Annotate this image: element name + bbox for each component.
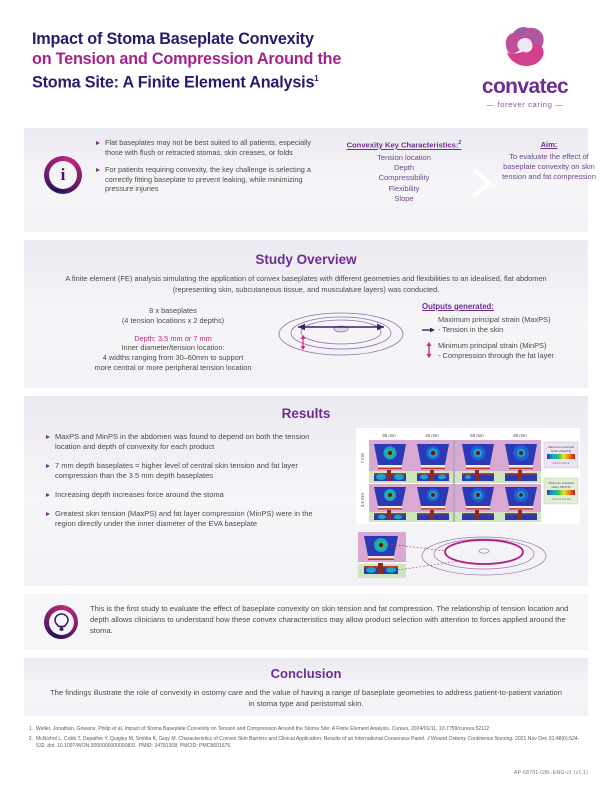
list-item: Increasing depth increases force around … [46, 490, 316, 500]
list-item: Greatest skin tension (MaxPS) and fat la… [46, 509, 316, 529]
key-message-text: This is the first study to evaluate the … [90, 604, 576, 636]
aim-text: To evaluate the effect of baseplate conv… [494, 152, 604, 183]
legend-maxps: Maximum principal strain (MaxPS) 0.0 0.1… [544, 442, 578, 468]
key-characteristics-list: Tension location Depth Compressibility F… [334, 153, 474, 205]
output-minps-line2: - Compression through the fat layer [438, 351, 598, 361]
list-item: For patients requiring convexity, the ke… [96, 165, 314, 194]
aim-block: Aim: To evaluate the effect of baseplate… [494, 140, 604, 183]
reference-text-a: Weller, Jonathan, Gowans, Philip et al, … [36, 726, 392, 732]
list-item: Flexibility [334, 184, 474, 194]
title-line-2: on Tension and Compression Around the [32, 50, 442, 70]
horizontal-arrow-icon [422, 321, 435, 329]
svg-text:60 mm: 60 mm [513, 433, 527, 438]
reference-number: 2. [24, 736, 33, 743]
list-item: MaxPS and MinPS in the abdomen was found… [46, 432, 316, 452]
conclusion-title: Conclusion [24, 666, 588, 681]
logo-wordmark: convatec [470, 76, 580, 98]
poster-header: Impact of Stoma Baseplate Convexity on T… [0, 0, 612, 122]
svg-text:3.5 mm: 3.5 mm [360, 493, 365, 507]
intro-panel: i Flat baseplates may not be best suited… [24, 128, 588, 232]
output-minps: Minimum principal strain (MinPS) - Compr… [422, 341, 598, 360]
list-item: 7 mm depth baseplates = higher level of … [46, 461, 316, 481]
legend-minps: Minimum principal strain (MinPS) -0.3 -0… [544, 478, 578, 504]
widths-line-2: more central or more peripheral tension … [42, 363, 304, 373]
results-title: Results [24, 406, 588, 421]
svg-text:50 mm: 50 mm [470, 433, 484, 438]
chevron-right-icon [471, 168, 493, 198]
svg-text:strain (MaxPS): strain (MaxPS) [551, 449, 571, 453]
info-icon: i [44, 156, 82, 194]
results-bullet-list: MaxPS and MinPS in the abdomen was found… [46, 432, 316, 538]
fea-callout-figure [356, 530, 580, 580]
study-overview-title: Study Overview [24, 252, 588, 267]
baseplates-count: 8 x baseplates [42, 306, 304, 316]
references-list: 1.Weller, Jonathan, Gowans, Philip et al… [24, 726, 588, 754]
lightbulb-icon [44, 605, 78, 639]
list-item: Compressibility [334, 173, 474, 183]
output-maxps-line1: Maximum principal strain (MaxPS) [438, 315, 598, 325]
results-panel: Results MaxPS and MinPS in the abdomen w… [24, 396, 588, 586]
output-maxps-line2: - Tension in the skin [438, 325, 598, 335]
page-title: Impact of Stoma Baseplate Convexity on T… [32, 30, 442, 93]
outputs-generated-block: Outputs generated: Maximum principal str… [422, 302, 598, 367]
reference-number: 1. [24, 726, 33, 733]
svg-text:0.0 0.1 0.2 0.3: 0.0 0.1 0.2 0.3 [553, 461, 570, 465]
reference-text-b: 2024/01/11, 10.7759/cureus.52112 [410, 726, 490, 732]
logo-tagline: — forever caring — [470, 100, 580, 109]
conclusion-text: The findings illustrate the role of conv… [46, 687, 566, 709]
list-item: Flat baseplates may not be best suited t… [96, 138, 314, 157]
poster-page: Impact of Stoma Baseplate Convexity on T… [0, 0, 612, 792]
reference-text-a: McNichol L, Cobb T, Depaifve Y, Quigley … [36, 736, 427, 742]
list-item: Depth [334, 163, 474, 173]
key-characteristics-block: Convexity Key Characteristics:2 Tension … [334, 140, 474, 205]
title-reference-marker: 1 [314, 74, 318, 83]
reference-journal: Cureus, [392, 726, 410, 732]
widths-line-1: 4 widths ranging from 30–60mm to support [42, 353, 304, 363]
key-message-panel: This is the first study to evaluate the … [24, 594, 588, 650]
output-maxps: Maximum principal strain (MaxPS) - Tensi… [422, 315, 598, 334]
title-line-3: Stoma Site: A Finite Element Analysis1 [32, 69, 442, 93]
convatec-logo: convatec — forever caring — [470, 22, 580, 109]
vertical-arrow-icon [425, 342, 433, 358]
output-minps-line1: Minimum principal strain (MinPS) [438, 341, 598, 351]
aim-heading: Aim: [494, 140, 604, 149]
intro-bullet-list: Flat baseplates may not be best suited t… [96, 138, 314, 202]
reference-item: 2.McNichol L, Cobb T, Depaifve Y, Quigle… [24, 736, 588, 750]
inner-diameter-label: Inner diameter/tension location: [42, 343, 304, 353]
reference-item: 1.Weller, Jonathan, Gowans, Philip et al… [24, 726, 588, 733]
study-parameters: 8 x baseplates (4 tension locations x 2 … [42, 306, 304, 373]
svg-text:-0.3 -0.2 -0.1 0.0: -0.3 -0.2 -0.1 0.0 [551, 497, 571, 501]
fea-results-figure: 30 mm 40 mm 50 mm 60 mm 7 mm 3.5 mm [356, 428, 580, 524]
outputs-heading: Outputs generated: [422, 302, 598, 311]
document-code: AP-68781-GBL-ENG-v1 (v1.1) [514, 770, 588, 776]
info-icon-glyph: i [49, 161, 77, 189]
baseplates-detail: (4 tension locations x 2 depths) [42, 316, 304, 326]
svg-text:strain (MinPS): strain (MinPS) [551, 485, 571, 489]
lightbulb-icon-glyph [49, 610, 74, 635]
baseplate-cross-section-diagram [276, 308, 406, 368]
study-overview-panel: Study Overview A finite element (FE) ana… [24, 240, 588, 388]
list-item: Tension location [334, 153, 474, 163]
list-item: Slope [334, 194, 474, 204]
convatec-flower-icon [498, 22, 552, 72]
key-characteristics-heading: Convexity Key Characteristics:2 [334, 140, 474, 150]
svg-text:30 mm: 30 mm [382, 433, 396, 438]
svg-text:40 mm: 40 mm [425, 433, 439, 438]
title-line-1: Impact of Stoma Baseplate Convexity [32, 30, 442, 50]
depth-line: Depth: 3.5 mm or 7 mm [42, 334, 304, 344]
reference-journal: J Wound Ostomy Continence Nursing. [427, 736, 514, 742]
conclusion-panel: Conclusion The findings illustrate the r… [24, 658, 588, 716]
svg-text:7 mm: 7 mm [360, 452, 365, 463]
study-overview-lead: A finite element (FE) analysis simulatin… [46, 274, 566, 295]
